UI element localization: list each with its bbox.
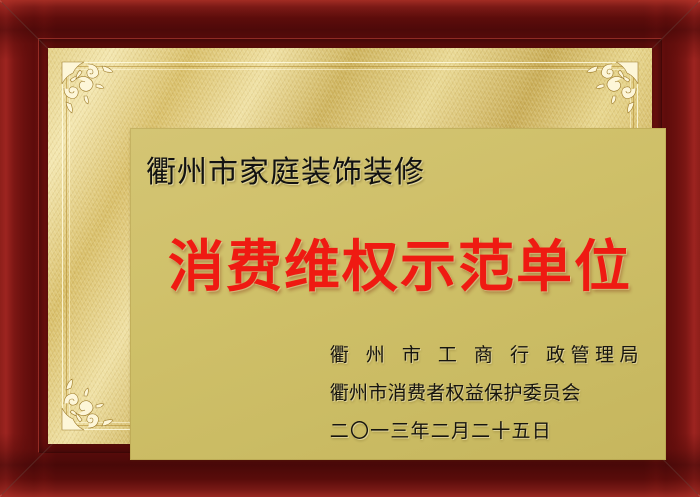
gold-mat: 衢州市家庭装饰装修 消费维权示范单位 衢 州 市 工 商 行 政管理局 衢州市消… [48, 48, 652, 444]
certificate-center-panel: 衢州市家庭装饰装修 消费维权示范单位 衢 州 市 工 商 行 政管理局 衢州市消… [130, 128, 666, 460]
corner-flourish-icon-bottom-left [58, 360, 132, 434]
issuing-authority-line-1: 衢 州 市 工 商 行 政管理局 [330, 346, 644, 365]
plaque-subject-title: 衢州市家庭装饰装修 [146, 158, 425, 188]
corner-flourish-icon-top-left [58, 58, 132, 132]
award-title: 消费维权示范单位 [140, 240, 660, 296]
issuing-authority-line-2: 衢州市消费者权益保护委员会 [330, 384, 644, 403]
issue-date: 二〇一三年二月二十五日 [330, 422, 644, 441]
issuer-signature-block: 衢 州 市 工 商 行 政管理局 衢州市消费者权益保护委员会 二〇一三年二月二十… [330, 346, 644, 441]
award-plaque: 衢州市家庭装饰装修 消费维权示范单位 衢 州 市 工 商 行 政管理局 衢州市消… [0, 0, 700, 497]
corner-flourish-icon-top-right [568, 58, 642, 132]
